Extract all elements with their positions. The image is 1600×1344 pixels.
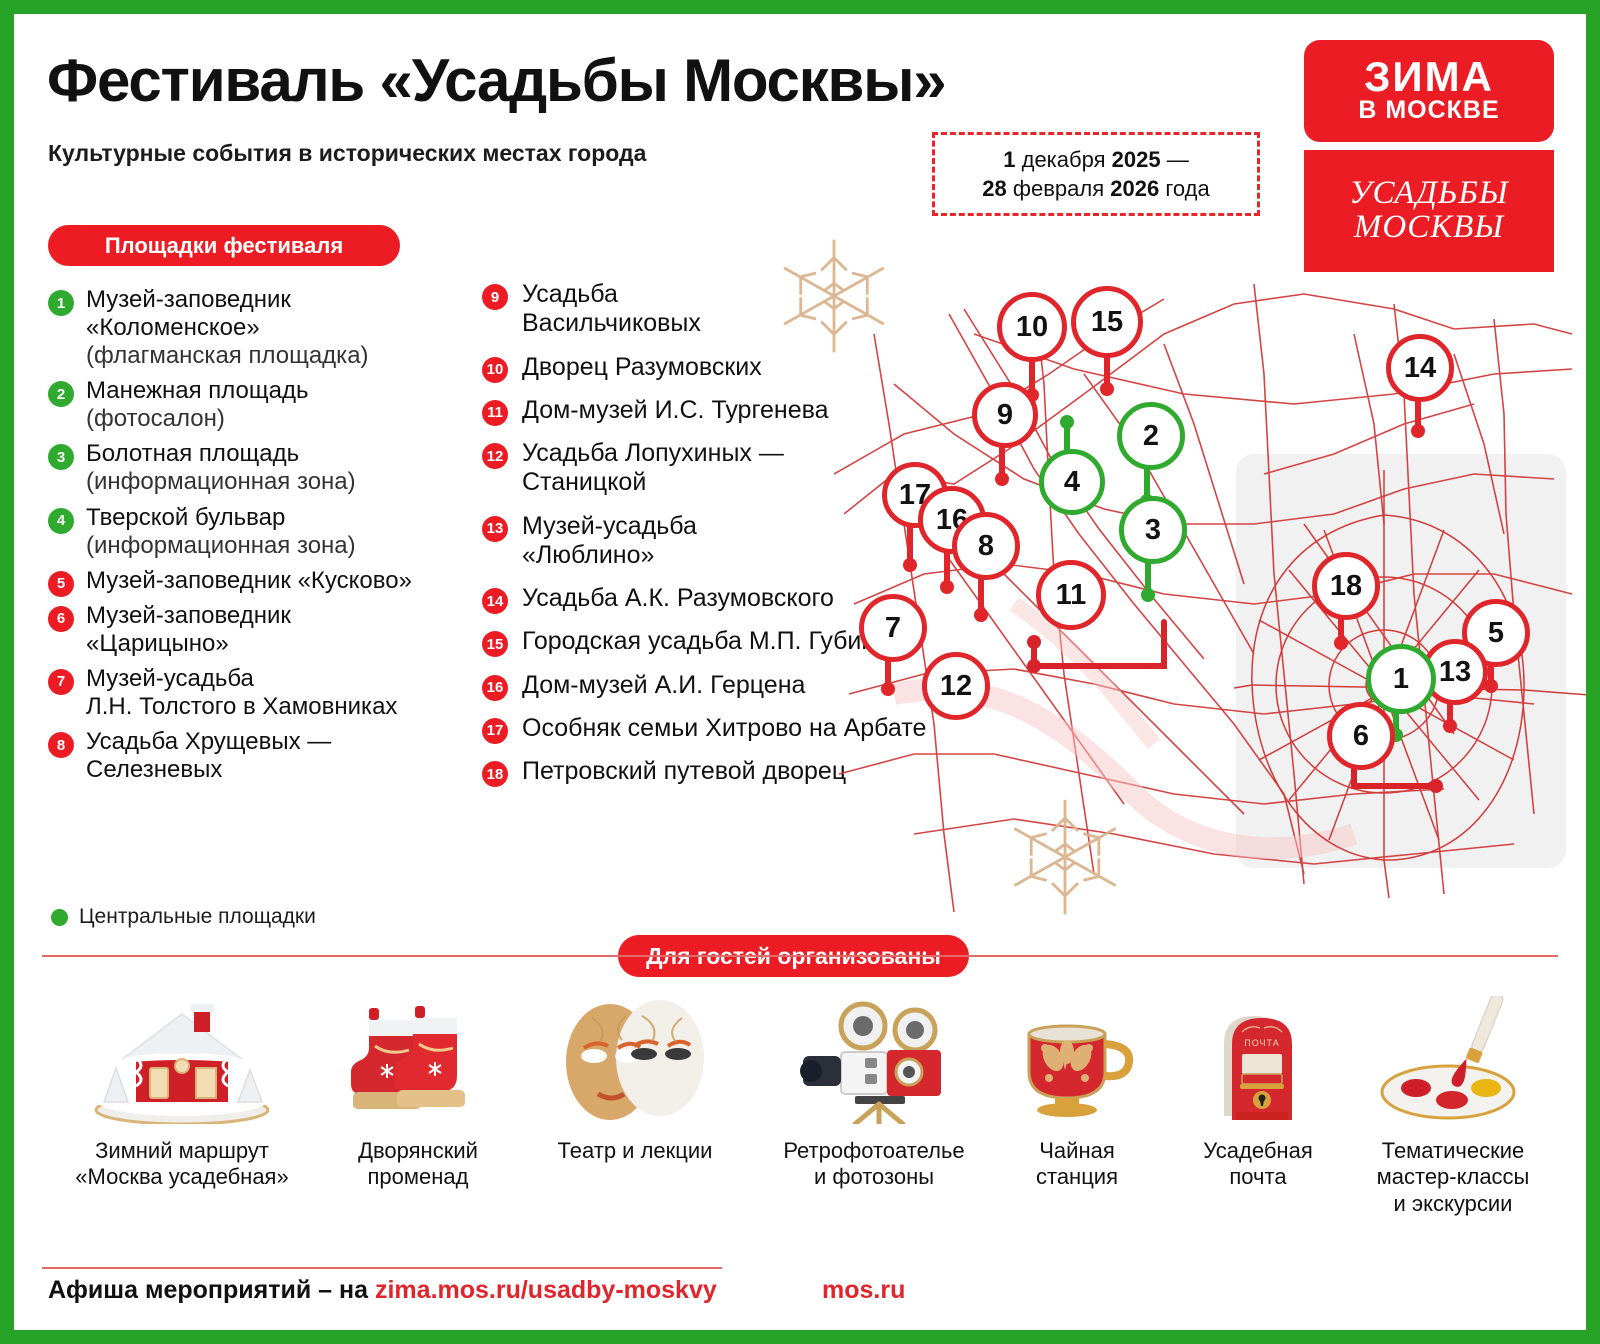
- map-marker-1-label: 1: [1366, 644, 1436, 714]
- winter-boots-icon: [310, 992, 526, 1124]
- venue-number-badge-8: 8: [48, 732, 74, 758]
- venue-note: (информационная зона): [86, 468, 478, 496]
- venue-name: Музей-заповедник«Коломенское»(флагманска…: [86, 286, 478, 370]
- venue-number-badge-12: 12: [482, 443, 508, 469]
- page-title: Фестиваль «Усадьбы Москвы»: [47, 46, 945, 115]
- zima-logo-line2: В МОСКВЕ: [1358, 97, 1499, 125]
- snowflake-top-icon: [769, 232, 899, 360]
- venue-list-item[interactable]: 1Музей-заповедник«Коломенское»(флагманск…: [48, 286, 478, 370]
- venue-list-item[interactable]: 6Музей-заповедник«Царицыно»: [48, 602, 478, 658]
- venue-note: (информационная зона): [86, 532, 478, 560]
- venue-number-badge-10: 10: [482, 357, 508, 383]
- service-item-6: Тематические мастер-классы и экскурсии: [1348, 992, 1558, 1217]
- service-caption-3: Ретрофотоателье и фотозоны: [748, 1138, 1000, 1191]
- footer-prefix: Афиша мероприятий – на: [48, 1276, 375, 1304]
- venue-number-badge-15: 15: [482, 631, 508, 657]
- venues-section-pill: Площадки фестиваля: [48, 225, 400, 266]
- map-marker-14-label: 14: [1386, 334, 1454, 402]
- usadby-logo-line2: МОСКВЫ: [1354, 211, 1504, 245]
- usadby-logo-line1: УСАДЬБЫ: [1349, 177, 1508, 211]
- venue-number-badge-18: 18: [482, 761, 508, 787]
- venue-list-item[interactable]: 7Музей-усадьбаЛ.Н. Толстого в Хамовниках: [48, 665, 478, 721]
- mailbox-label: ПОЧТА: [1244, 1038, 1279, 1048]
- map-marker-6-label: 6: [1327, 702, 1395, 770]
- service-caption-6: Тематические мастер-классы и экскурсии: [1348, 1138, 1558, 1217]
- service-item-1: Дворянский променад: [310, 992, 526, 1191]
- legend-central-venues: Центральные площадки: [51, 905, 316, 929]
- service-caption-4: Чайная станция: [990, 1138, 1164, 1191]
- usadby-moskvy-logo: УСАДЬБЫ МОСКВЫ: [1304, 150, 1554, 272]
- venue-number-badge-1: 1: [48, 290, 74, 316]
- date-dash: —: [1161, 147, 1189, 172]
- map-marker-12-label: 12: [922, 652, 990, 720]
- venue-number-badge-7: 7: [48, 669, 74, 695]
- venue-number-badge-11: 11: [482, 400, 508, 426]
- service-caption-1: Дворянский променад: [310, 1138, 526, 1191]
- venue-name: Музей-усадьбаЛ.Н. Толстого в Хамовниках: [86, 665, 478, 721]
- venue-number-badge-6: 6: [48, 606, 74, 632]
- venue-number-badge-9: 9: [482, 284, 508, 310]
- mosru-link[interactable]: mos.ru: [822, 1276, 905, 1305]
- theatre-masks-icon: [520, 992, 750, 1124]
- venue-number-badge-3: 3: [48, 444, 74, 470]
- venue-list-item[interactable]: 4Тверской бульвар(информационная зона): [48, 504, 478, 560]
- service-item-2: Театр и лекции: [520, 992, 750, 1164]
- map-marker-3-label: 3: [1119, 496, 1187, 564]
- divider-top: [42, 955, 1558, 957]
- venue-number-badge-13: 13: [482, 516, 508, 542]
- service-caption-2: Театр и лекции: [520, 1138, 750, 1164]
- date-end-day: 28: [982, 176, 1006, 201]
- page-subtitle: Культурные события в исторических местах…: [48, 140, 646, 167]
- snowflake-bottom-icon: [999, 792, 1131, 922]
- gingerbread-house-icon: [42, 992, 322, 1124]
- legend-green-dot-icon: [51, 909, 68, 926]
- map-marker-15-label: 15: [1071, 286, 1143, 358]
- map-marker-18-label: 18: [1312, 552, 1380, 620]
- venue-list-item[interactable]: 8Усадьба Хрущевых —Селезневых: [48, 728, 478, 784]
- date-line-1: 1 декабря 2025 —: [1003, 145, 1188, 174]
- zima-v-moskve-logo: ЗИМА В МОСКВЕ: [1304, 40, 1554, 142]
- footer-afisha: Афиша мероприятий – на zima.mos.ru/usadb…: [48, 1276, 717, 1305]
- venue-name: Усадьба Хрущевых —Селезневых: [86, 728, 478, 784]
- map-marker-10-label: 10: [997, 292, 1067, 362]
- date-line-2: 28 февраля 2026 года: [982, 174, 1209, 203]
- venue-number-badge-16: 16: [482, 675, 508, 701]
- venue-list-item[interactable]: 5Музей-заповедник «Кусково»: [48, 567, 478, 595]
- service-item-4: Чайная станция: [990, 992, 1164, 1191]
- services-row: Зимний маршрут «Москва усадебная»: [42, 992, 1558, 1262]
- venue-number-badge-2: 2: [48, 381, 74, 407]
- venue-name: Музей-заповедник «Кусково»: [86, 567, 478, 595]
- map-marker-2-label: 2: [1117, 402, 1185, 470]
- service-item-3: Ретрофотоателье и фотозоны: [748, 992, 1000, 1191]
- venue-number-badge-5: 5: [48, 571, 74, 597]
- venue-name: Музей-заповедник«Царицыно»: [86, 602, 478, 658]
- service-item-5: ПОЧТА Усадебная почта: [1162, 992, 1354, 1191]
- date-end-suffix: года: [1159, 176, 1209, 201]
- venue-note: (флагманская площадка): [86, 342, 478, 370]
- map-marker-4-label: 4: [1039, 449, 1105, 515]
- map-marker-8-label: 8: [952, 512, 1020, 580]
- moscow-map: 10 15 14 9 2 4 3: [834, 274, 1574, 914]
- map-marker-7-label: 7: [859, 594, 927, 662]
- venue-name: Болотная площадь(информационная зона): [86, 440, 478, 496]
- footer-url[interactable]: zima.mos.ru/usadby-moskvy: [375, 1276, 717, 1304]
- retro-movie-camera-icon: [748, 992, 1000, 1124]
- date-start-year: 2025: [1112, 147, 1161, 172]
- venue-number-badge-14: 14: [482, 588, 508, 614]
- venue-name: Тверской бульвар(информационная зона): [86, 504, 478, 560]
- poster-sheet: Фестиваль «Усадьбы Москвы» Культурные со…: [14, 14, 1586, 1330]
- paint-palette-icon: [1348, 992, 1558, 1124]
- service-item-0: Зимний маршрут «Москва усадебная»: [42, 992, 322, 1191]
- teacup-icon: [990, 992, 1164, 1124]
- date-start-month: декабря: [1016, 147, 1112, 172]
- mailbox-icon: ПОЧТА: [1162, 992, 1354, 1124]
- divider-bottom: [42, 1267, 722, 1269]
- service-caption-5: Усадебная почта: [1162, 1138, 1354, 1191]
- date-end-month: февраля: [1007, 176, 1110, 201]
- venue-list-item[interactable]: 3Болотная площадь(информационная зона): [48, 440, 478, 496]
- date-range-box: 1 декабря 2025 — 28 февраля 2026 года: [932, 132, 1260, 216]
- date-start-day: 1: [1003, 147, 1015, 172]
- map-marker-11-label: 11: [1036, 560, 1106, 630]
- service-caption-0: Зимний маршрут «Москва усадебная»: [42, 1138, 322, 1191]
- date-end-year: 2026: [1110, 176, 1159, 201]
- zima-logo-line1: ЗИМА: [1364, 57, 1494, 97]
- venue-note: (фотосалон): [86, 405, 478, 433]
- legend-label: Центральные площадки: [79, 905, 316, 929]
- map-marker-9-label: 9: [972, 382, 1038, 448]
- venue-list-item[interactable]: 2Манежная площадь(фотосалон): [48, 377, 478, 433]
- map-connectors: [834, 274, 1574, 914]
- venue-number-badge-17: 17: [482, 718, 508, 744]
- venues-list-left: 1Музей-заповедник«Коломенское»(флагманск…: [48, 286, 478, 791]
- venue-number-badge-4: 4: [48, 508, 74, 534]
- venue-name: Манежная площадь(фотосалон): [86, 377, 478, 433]
